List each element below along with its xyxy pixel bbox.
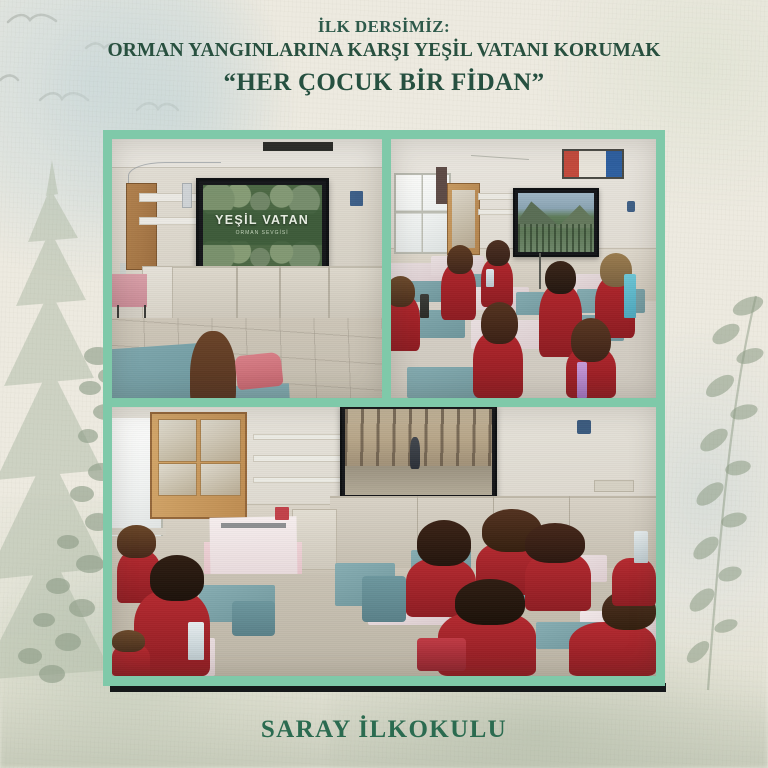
water-bottle-1 <box>486 269 494 287</box>
poster-footer: SARAY İLKOKULU <box>0 716 768 744</box>
student-3-head <box>545 261 577 295</box>
wall-plaque <box>350 191 364 207</box>
video-forest <box>518 224 594 252</box>
poster-heading: İLK DERSİMİZ: ORMAN YANGINLARINA KARŞI Y… <box>0 16 768 99</box>
heading-line-3: “HER ÇOCUK BİR FİDAN” <box>0 67 768 100</box>
flat-board-on-table <box>221 523 286 528</box>
smart-board <box>513 188 599 257</box>
cabinet-pane-4 <box>200 463 241 496</box>
collage-row-top: YEŞİL VATAN ORMAN SEVGİSİ <box>112 139 656 398</box>
video-forest-ground <box>345 466 491 495</box>
smart-board-screen <box>518 193 594 252</box>
water-bottle-3 <box>577 362 588 398</box>
slide-title: YEŞİL VATAN <box>203 213 322 227</box>
wall-vent <box>594 480 634 493</box>
glass-cabinet <box>150 412 246 518</box>
teacher-table <box>112 274 147 308</box>
school-bag <box>235 352 284 390</box>
school-bag-3 <box>417 638 466 670</box>
wall-poster <box>562 149 624 179</box>
heading-line-1: İLK DERSİMİZ: <box>0 16 768 37</box>
heading-line-2: ORMAN YANGINLARINA KARŞI YEŞİL VATANI KO… <box>0 38 768 63</box>
water-bottle-2 <box>634 531 648 563</box>
student-4-head <box>417 520 471 566</box>
school-bag-1 <box>362 576 406 622</box>
cabinet-pane-1 <box>158 419 197 462</box>
student-6-head <box>571 318 611 362</box>
thermos <box>420 294 429 317</box>
wall-sensor <box>627 201 635 211</box>
student-5-head <box>481 302 518 343</box>
bookcase-glass <box>452 190 475 249</box>
photo-collage: YEŞİL VATAN ORMAN SEVGİSİ <box>103 130 665 686</box>
ceiling-strip <box>263 142 333 151</box>
student-7-head <box>455 579 526 625</box>
cabinet-pane-2 <box>200 419 241 462</box>
smart-board-screen <box>345 409 491 494</box>
slide-subtitle: ORMAN SEVGİSİ <box>203 230 322 236</box>
leaf-branch-icon <box>652 290 768 710</box>
school-bag-2 <box>232 601 276 636</box>
smart-board-screen: YEŞİL VATAN ORMAN SEVGİSİ <box>203 185 322 270</box>
sanitizer-dispenser <box>182 183 192 208</box>
wall-sensor <box>577 420 591 433</box>
student-1-head <box>117 525 155 557</box>
smart-board-mount <box>539 253 541 289</box>
smart-board: YEŞİL VATAN ORMAN SEVGİSİ <box>196 178 329 277</box>
student-9 <box>612 558 656 606</box>
student-8 <box>569 622 656 676</box>
wall-shelf-lower <box>139 217 200 225</box>
cabinet-pane-3 <box>158 463 197 496</box>
water-bottle-2 <box>624 274 636 318</box>
student-1-head <box>447 245 474 273</box>
photo-classroom-slide[interactable]: YEŞİL VATAN ORMAN SEVGİSİ <box>112 139 382 398</box>
student-2-head <box>150 555 204 601</box>
curtain <box>436 167 447 203</box>
student-7-head <box>391 276 415 307</box>
photo-students-watching[interactable] <box>391 139 656 398</box>
video-person <box>410 437 420 469</box>
school-name: SARAY İLKOKULU <box>0 716 768 744</box>
pen-cup <box>275 507 289 520</box>
water-bottle-1 <box>188 622 204 660</box>
student-2-head <box>486 240 510 266</box>
collage-row-bottom <box>112 407 656 676</box>
counter-seam-2 <box>279 266 281 318</box>
student-3-head <box>112 630 145 652</box>
built-in-counter <box>166 266 382 320</box>
student-6-head <box>525 523 585 563</box>
photo-classroom-wide[interactable] <box>112 407 656 676</box>
counter-seam-3 <box>328 266 330 318</box>
poster-canvas: İLK DERSİMİZ: ORMAN YANGINLARINA KARŞI Y… <box>0 0 768 768</box>
counter-seam-1 <box>236 266 238 318</box>
wooden-bookcase <box>447 183 481 255</box>
smart-board <box>340 407 496 500</box>
